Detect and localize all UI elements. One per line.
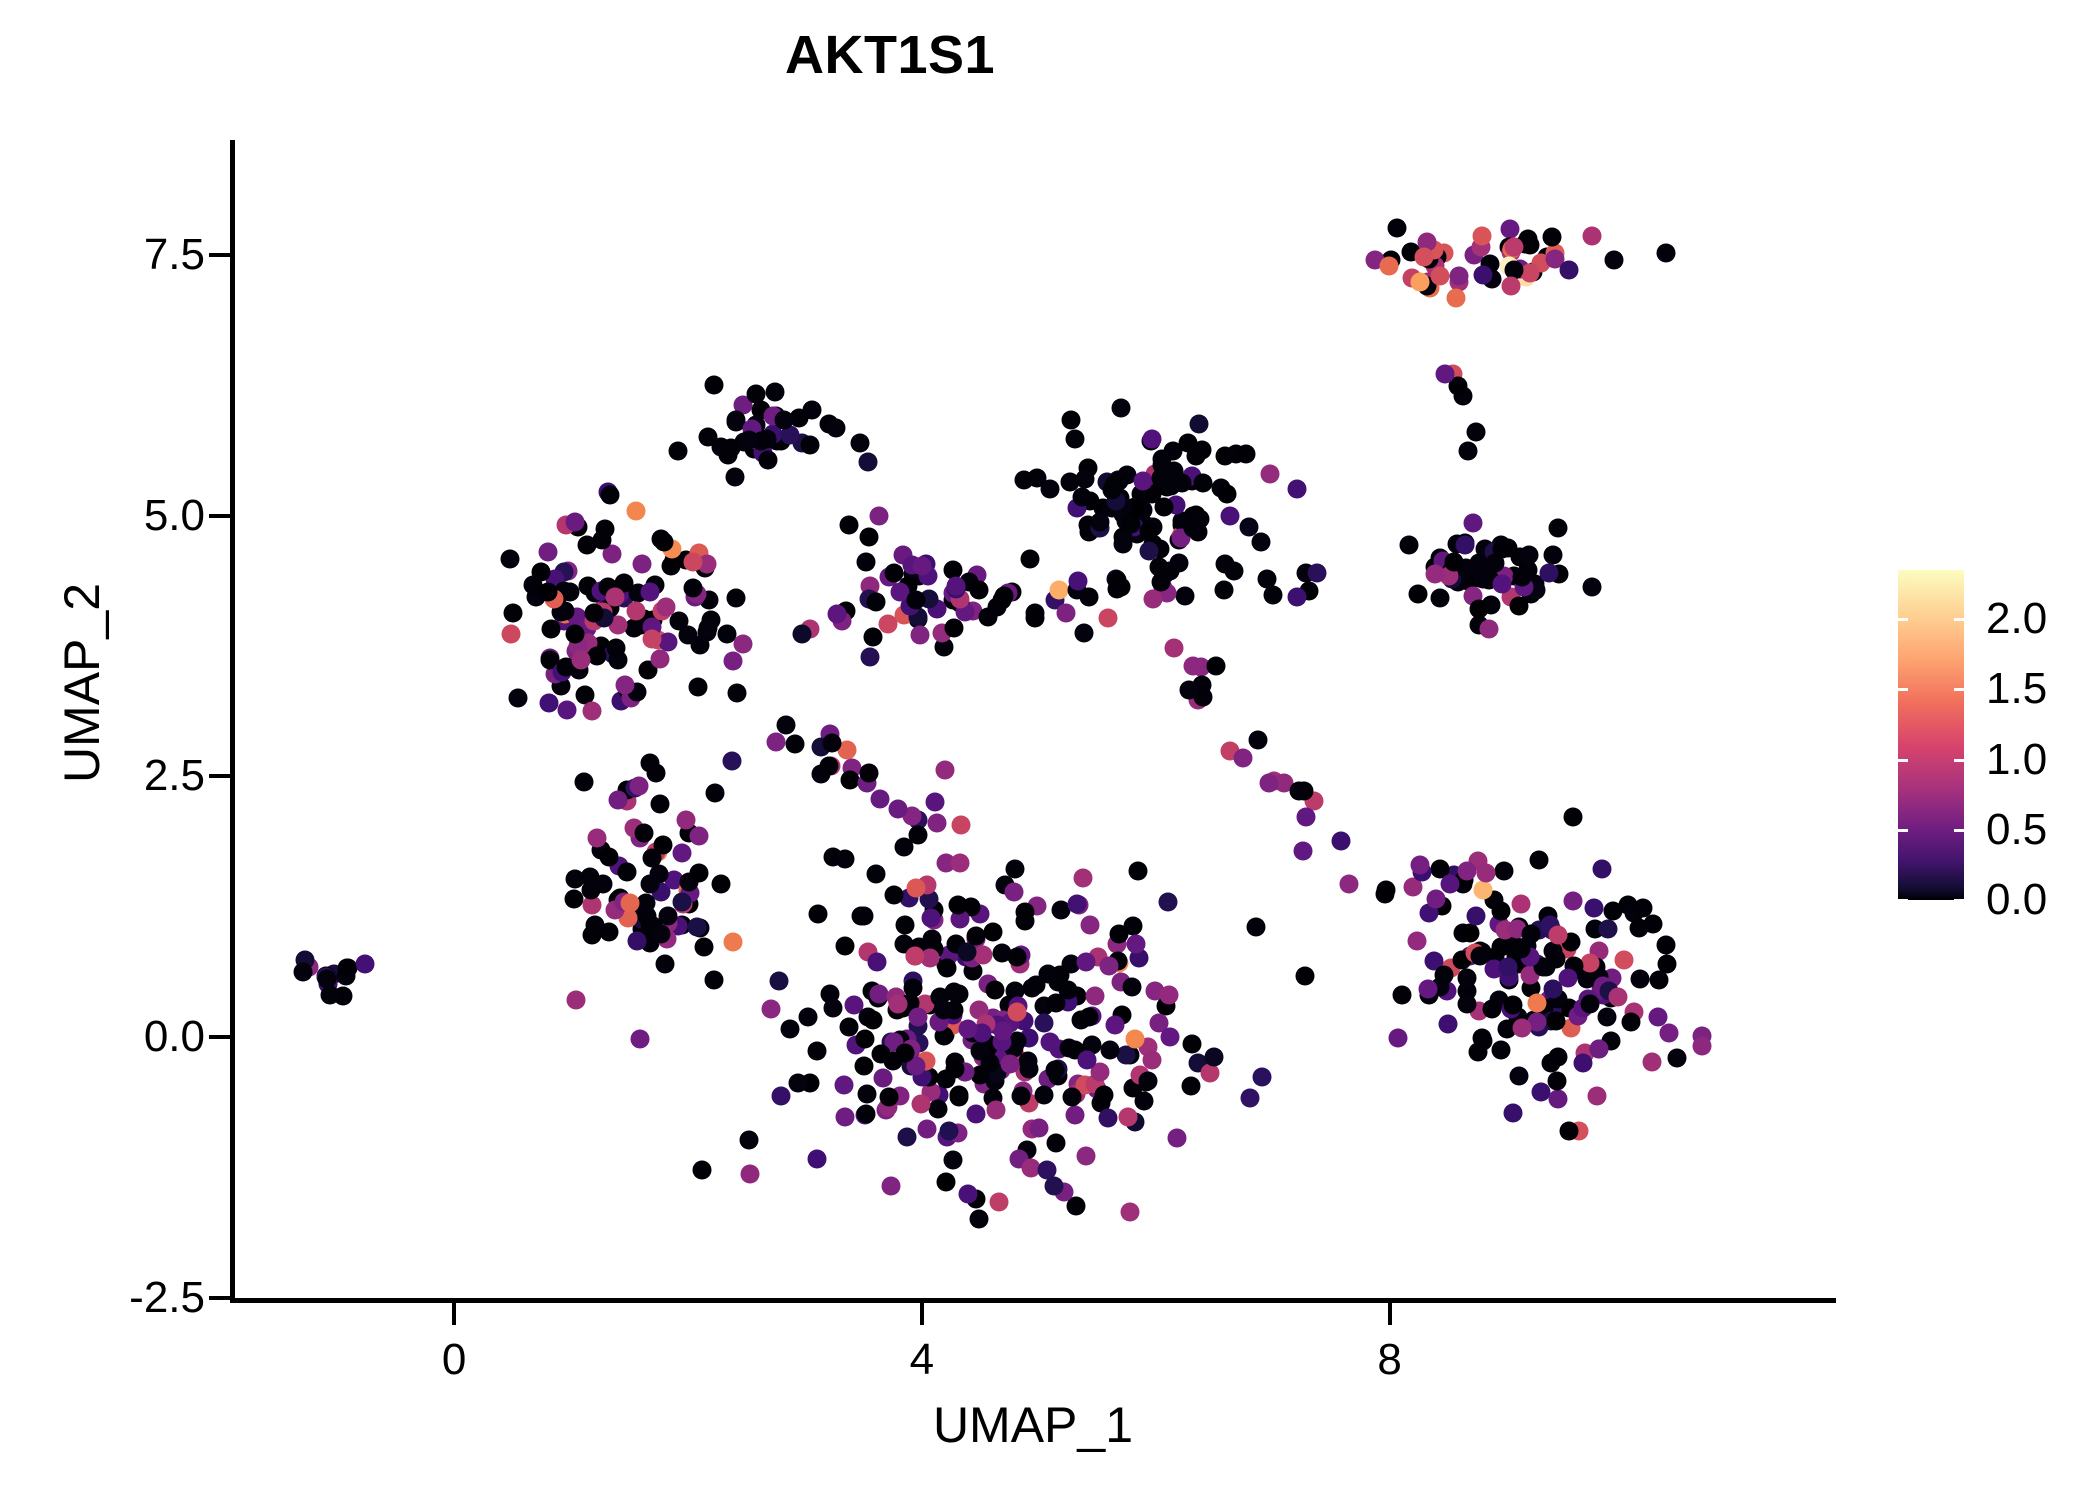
scatter-point [1090,512,1109,531]
scatter-point [1408,931,1427,950]
scatter-point [1081,915,1100,934]
scatter-point [1072,1011,1091,1030]
scatter-point [854,907,873,926]
scatter-point [861,648,880,667]
y-tick-label: 0.0 [144,1015,205,1059]
scatter-point [1075,470,1094,489]
scatter-point [1473,880,1492,899]
scatter-point [1294,841,1313,860]
scatter-point [1546,950,1565,969]
scatter-point [1114,535,1133,554]
scatter-point [973,945,992,964]
scatter-point [1414,248,1433,267]
scatter-point [1233,749,1252,768]
scatter-point [944,1150,963,1169]
scatter-point [626,602,645,621]
scatter-point [1593,859,1612,878]
scatter-point [819,757,838,776]
scatter-point [1134,1092,1153,1111]
scatter-point [1657,935,1676,954]
scatter-point [873,1068,892,1087]
scatter-point [1564,807,1583,826]
scatter-point [966,1104,985,1123]
scatter-point [607,639,626,658]
scatter-point [1139,1071,1158,1090]
scatter-point [1080,587,1099,606]
scatter-point [574,772,593,791]
scatter-point [615,676,634,695]
scatter-point [1005,859,1024,878]
scatter-point [1062,1087,1081,1106]
scatter-point [321,986,340,1005]
scatter-point [1588,1086,1607,1105]
scatter-point [1246,918,1265,937]
scatter-point [1154,498,1173,517]
scatter-point [655,533,674,552]
scatter-point [905,947,924,966]
scatter-point [1447,289,1466,308]
scatter-point [885,885,904,904]
scatter-point [1011,1087,1030,1106]
scatter-point [792,625,811,644]
scatter-point [629,776,648,795]
scatter-point [1512,567,1531,586]
scatter-point [1076,1147,1095,1166]
scatter-point [1455,535,1474,554]
scatter-point [606,587,625,606]
scatter-point [689,864,708,883]
scatter-point [1123,978,1142,997]
scatter-point [774,410,793,429]
scatter-point [1544,979,1563,998]
scatter-point [1121,515,1140,534]
scatter-point [879,614,898,633]
scatter-point [766,732,785,751]
scatter-point [1393,986,1412,1005]
scatter-point [935,761,954,780]
scatter-point [699,619,718,638]
scatter-point [1183,518,1202,537]
scatter-point [771,1086,790,1105]
scatter-point [907,591,926,610]
scatter-point [1582,226,1601,245]
scatter-point [1248,731,1267,750]
scatter-point [808,1149,827,1168]
scatter-point [734,634,753,653]
scatter-point [907,879,926,898]
scatter-point [1001,1054,1020,1073]
scatter-point [766,383,785,402]
scatter-point [540,693,559,712]
scatter-point [1427,890,1446,909]
scatter-point [1045,1176,1064,1195]
scatter-point [1504,237,1523,256]
scatter-point [1458,994,1477,1013]
scatter-point [704,375,723,394]
scatter-point [740,1164,759,1183]
y-tick-mark [209,774,231,778]
scatter-point [937,1172,956,1191]
colorbar-tick-mark [1954,618,1964,621]
scatter-point [1181,1077,1200,1096]
scatter-point [694,937,713,956]
scatter-point [693,1160,712,1179]
scatter-point [541,619,560,638]
scatter-point [909,1007,928,1026]
scatter-point [538,542,557,561]
scatter-point [1458,441,1477,460]
colorbar-tick-mark [1898,688,1908,691]
scatter-point [799,1007,818,1026]
scatter-point [1049,581,1068,600]
scatter-point [851,434,870,453]
scatter-point [808,1041,827,1060]
scatter-point [355,955,374,974]
scatter-point [1387,219,1406,238]
scatter-point [827,418,846,437]
scatter-point [564,890,583,909]
scatter-point [1657,955,1676,974]
colorbar-tick-mark [1898,759,1908,762]
scatter-point [688,677,707,696]
scatter-point [1133,472,1152,491]
figure-canvas: AKT1S1 -2.50.02.55.07.5 048 UMAP_1 UMAP_… [0,0,2100,1500]
scatter-point [318,969,337,988]
scatter-point [1380,257,1399,276]
colorbar-tick-label: 2.0 [1986,597,2047,641]
scatter-point [1504,1103,1523,1122]
scatter-point [1544,545,1563,564]
scatter-point [1200,1064,1219,1083]
scatter-point [808,905,827,924]
scatter-point [928,1099,947,1118]
scatter-point [1603,901,1622,920]
scatter-point [1419,980,1438,999]
scatter-point [759,451,778,470]
scatter-point [1389,1029,1408,1048]
scatter-point [1520,546,1539,565]
scatter-point [1629,918,1648,937]
scatter-point [1168,1128,1187,1147]
scatter-point [1159,893,1178,912]
scatter-point [1633,899,1652,918]
scatter-point [836,936,855,955]
scatter-point [652,925,671,944]
scatter-point [1564,891,1583,910]
scatter-point [1077,1051,1096,1070]
scatter-points-layer [232,140,1834,1298]
scatter-point [1129,861,1148,880]
scatter-point [1430,589,1449,608]
scatter-point [1263,586,1282,605]
scatter-point [672,844,691,863]
scatter-point [557,700,576,719]
scatter-point [1472,1028,1491,1047]
scatter-point [1657,244,1676,263]
scatter-point [950,853,969,872]
scatter-point [723,752,742,771]
scatter-point [1241,1088,1260,1107]
scatter-point [586,916,605,935]
scatter-point [769,971,788,990]
plot-panel [232,140,1834,1298]
scatter-point [617,862,636,881]
scatter-point [1559,1122,1578,1141]
scatter-point [925,792,944,811]
scatter-point [1112,398,1131,417]
scatter-point [913,556,932,575]
scatter-point [823,999,842,1018]
scatter-point [1151,469,1170,488]
scatter-point [880,1087,899,1106]
scatter-point [1180,681,1199,700]
scatter-point [1099,1108,1118,1127]
scatter-point [1466,906,1485,925]
scatter-point [1030,1118,1049,1137]
scatter-point [911,1095,930,1114]
scatter-point [609,790,628,809]
x-tick-mark [1388,1303,1392,1325]
scatter-point [1076,952,1095,971]
scatter-point [1474,265,1493,284]
scatter-point [1153,449,1172,468]
scatter-point [1436,364,1455,383]
scatter-point [581,868,600,887]
scatter-point [1622,1013,1641,1032]
scatter-point [673,892,692,911]
color-legend: 0.00.51.01.52.0 [1898,560,2098,920]
scatter-point [727,588,746,607]
scatter-point [1119,1107,1138,1126]
y-tick-label: -2.5 [129,1276,205,1320]
scatter-point [871,789,890,808]
scatter-point [1160,1028,1179,1047]
scatter-point [1597,1007,1616,1026]
scatter-point [834,1076,853,1095]
scatter-point [740,430,759,449]
scatter-point [1259,773,1278,792]
scatter-point [1615,950,1634,969]
scatter-point [1049,973,1068,992]
scatter-point [884,564,903,583]
colorbar-tick-label: 1.0 [1986,738,2047,782]
scatter-point [1660,1023,1679,1042]
scatter-point [1206,656,1225,675]
scatter-point [1007,1003,1026,1022]
scatter-point [1066,1105,1085,1124]
scatter-point [1170,553,1189,572]
scatter-point [1444,553,1463,572]
scatter-point [1458,861,1477,880]
scatter-point [867,865,886,884]
scatter-point [1140,522,1159,541]
scatter-point [1530,850,1549,869]
scatter-point [585,604,604,623]
scatter-point [1500,220,1519,239]
colorbar-tick-mark [1954,759,1964,762]
scatter-point [863,1011,882,1030]
y-axis-label: UMAP_2 [53,333,111,1033]
scatter-point [293,963,312,982]
scatter-point [1491,1040,1510,1059]
scatter-point [1527,993,1546,1012]
scatter-point [1598,920,1617,939]
scatter-point [944,983,963,1002]
scatter-point [679,625,698,644]
scatter-point [1589,1039,1608,1058]
x-tick-label: 4 [910,1336,934,1384]
scatter-point [641,875,660,894]
scatter-point [788,1074,807,1093]
scatter-point [1034,1013,1053,1032]
scatter-point [840,1018,859,1037]
scatter-point [839,516,858,535]
scatter-point [881,1177,900,1196]
scatter-point [565,512,584,531]
scatter-point [1542,227,1561,246]
colorbar-tick-mark [1898,829,1908,832]
scatter-point [1472,226,1491,245]
scatter-point [740,1130,759,1149]
scatter-point [889,994,908,1013]
scatter-point [1075,624,1094,643]
scatter-point [724,933,743,952]
scatter-point [656,954,675,973]
scatter-point [761,1000,780,1019]
scatter-point [1073,488,1092,507]
scatter-point [1046,1133,1065,1152]
scatter-point [936,1070,955,1089]
scatter-point [937,959,956,978]
scatter-point [935,1000,954,1019]
scatter-point [1450,267,1469,286]
scatter-point [1585,898,1604,917]
x-tick-mark [920,1303,924,1325]
colorbar-tick-mark [1954,899,1964,902]
scatter-point [1434,966,1453,985]
scatter-point [504,604,523,623]
y-tick-mark [209,253,231,257]
scatter-point [632,554,651,573]
scatter-point [1605,250,1624,269]
scatter-point [1492,539,1511,558]
scatter-point [949,895,968,914]
scatter-point [1016,903,1035,922]
scatter-point [1028,469,1047,488]
scatter-point [1164,639,1183,658]
scatter-point [1630,969,1649,988]
scatter-point [927,814,946,833]
scatter-point [642,629,661,648]
y-axis-line [230,140,235,1302]
scatter-point [1152,572,1171,591]
scatter-point [908,826,927,845]
scatter-point [957,942,976,961]
scatter-point [1495,862,1514,881]
scatter-point [1290,781,1309,800]
scatter-point [896,916,915,935]
scatter-point [1492,575,1511,594]
scatter-point [640,754,659,773]
scatter-point [867,952,886,971]
scatter-point [1127,935,1146,954]
scatter-point [1339,874,1358,893]
scatter-point [1512,939,1531,958]
colorbar-tick-label: 0.5 [1986,808,2047,852]
scatter-point [689,826,708,845]
scatter-point [1512,1019,1531,1038]
scatter-point [836,1107,855,1126]
scatter-point [856,553,875,572]
scatter-point [1288,479,1307,498]
scatter-point [1099,956,1118,975]
scatter-point [950,1088,969,1107]
scatter-point [896,1043,915,1062]
scatter-point [981,1054,1000,1073]
scatter-point [945,619,964,638]
scatter-point [1409,584,1428,603]
scatter-point [959,1020,978,1039]
scatter-point [969,1210,988,1229]
scatter-point [627,932,646,951]
scatter-point [1041,1032,1060,1051]
scatter-point [801,436,820,455]
scatter-point [995,586,1014,605]
scatter-point [1034,1086,1053,1105]
scatter-point [1217,484,1236,503]
scatter-point [1539,563,1558,582]
scatter-point [1068,895,1087,914]
scatter-point [651,650,670,669]
scatter-point [921,909,940,928]
scatter-point [860,763,879,782]
scatter-point [1509,1066,1528,1085]
scatter-point [1582,577,1601,596]
scatter-point [1498,957,1517,976]
scatter-point [650,794,669,813]
scatter-point [1236,445,1255,464]
scatter-point [712,875,731,894]
scatter-point [627,502,646,521]
scatter-point [588,647,607,666]
y-tick-mark [209,1296,231,1300]
scatter-point [1121,1203,1140,1222]
scatter-point [1573,1053,1592,1072]
scatter-point [1492,902,1511,921]
scatter-point [1512,894,1531,913]
scatter-point [993,1021,1012,1040]
scatter-point [990,1192,1009,1211]
scatter-point [1025,608,1044,627]
scatter-point [500,550,519,569]
x-tick-label: 0 [442,1336,466,1384]
scatter-point [577,536,596,555]
scatter-point [1107,571,1126,590]
scatter-point [1510,596,1529,615]
scatter-point [565,624,584,643]
scatter-point [1483,999,1502,1018]
scatter-point [863,627,882,646]
scatter-point [1221,506,1240,525]
scatter-point [1438,1014,1457,1033]
y-tick-label: 5.0 [144,494,205,538]
colorbar-tick-mark [1898,899,1908,902]
scatter-point [1667,1049,1686,1068]
scatter-point [1005,882,1024,901]
scatter-point [1643,1053,1662,1072]
scatter-point [721,438,740,457]
scatter-point [1458,969,1477,988]
